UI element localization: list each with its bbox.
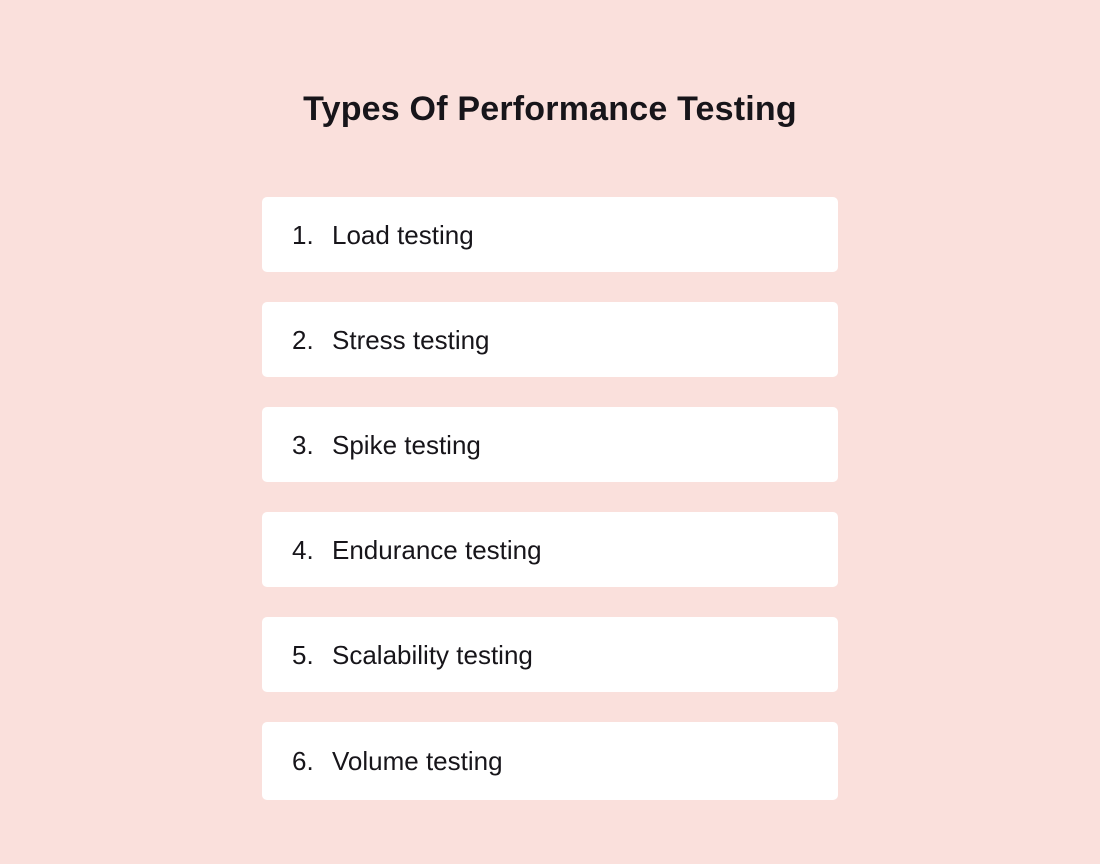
list-item[interactable]: 2. Stress testing [262,302,838,377]
page-title: Types Of Performance Testing [0,88,1100,130]
list-item[interactable]: 1. Load testing [262,197,838,272]
list-item-marker: 1. [292,220,332,250]
list-item-label: Endurance testing [332,535,542,565]
list-item-label: Load testing [332,220,474,250]
list-item-label: Stress testing [332,325,490,355]
list-item-label: Scalability testing [332,640,533,670]
list-item-marker: 6. [292,746,332,776]
list-item-marker: 5. [292,640,332,670]
list-item[interactable]: 6. Volume testing [262,722,838,800]
list-item[interactable]: 5. Scalability testing [262,617,838,692]
list-item-marker: 3. [292,430,332,460]
page-canvas: Types Of Performance Testing 1. Load tes… [0,0,1100,864]
performance-testing-types-list: 1. Load testing 2. Stress testing 3. Spi… [262,197,838,800]
list-item-label: Spike testing [332,430,481,460]
list-item-label: Volume testing [332,746,503,776]
list-item[interactable]: 3. Spike testing [262,407,838,482]
list-item-marker: 2. [292,325,332,355]
list-item-marker: 4. [292,535,332,565]
list-item[interactable]: 4. Endurance testing [262,512,838,587]
